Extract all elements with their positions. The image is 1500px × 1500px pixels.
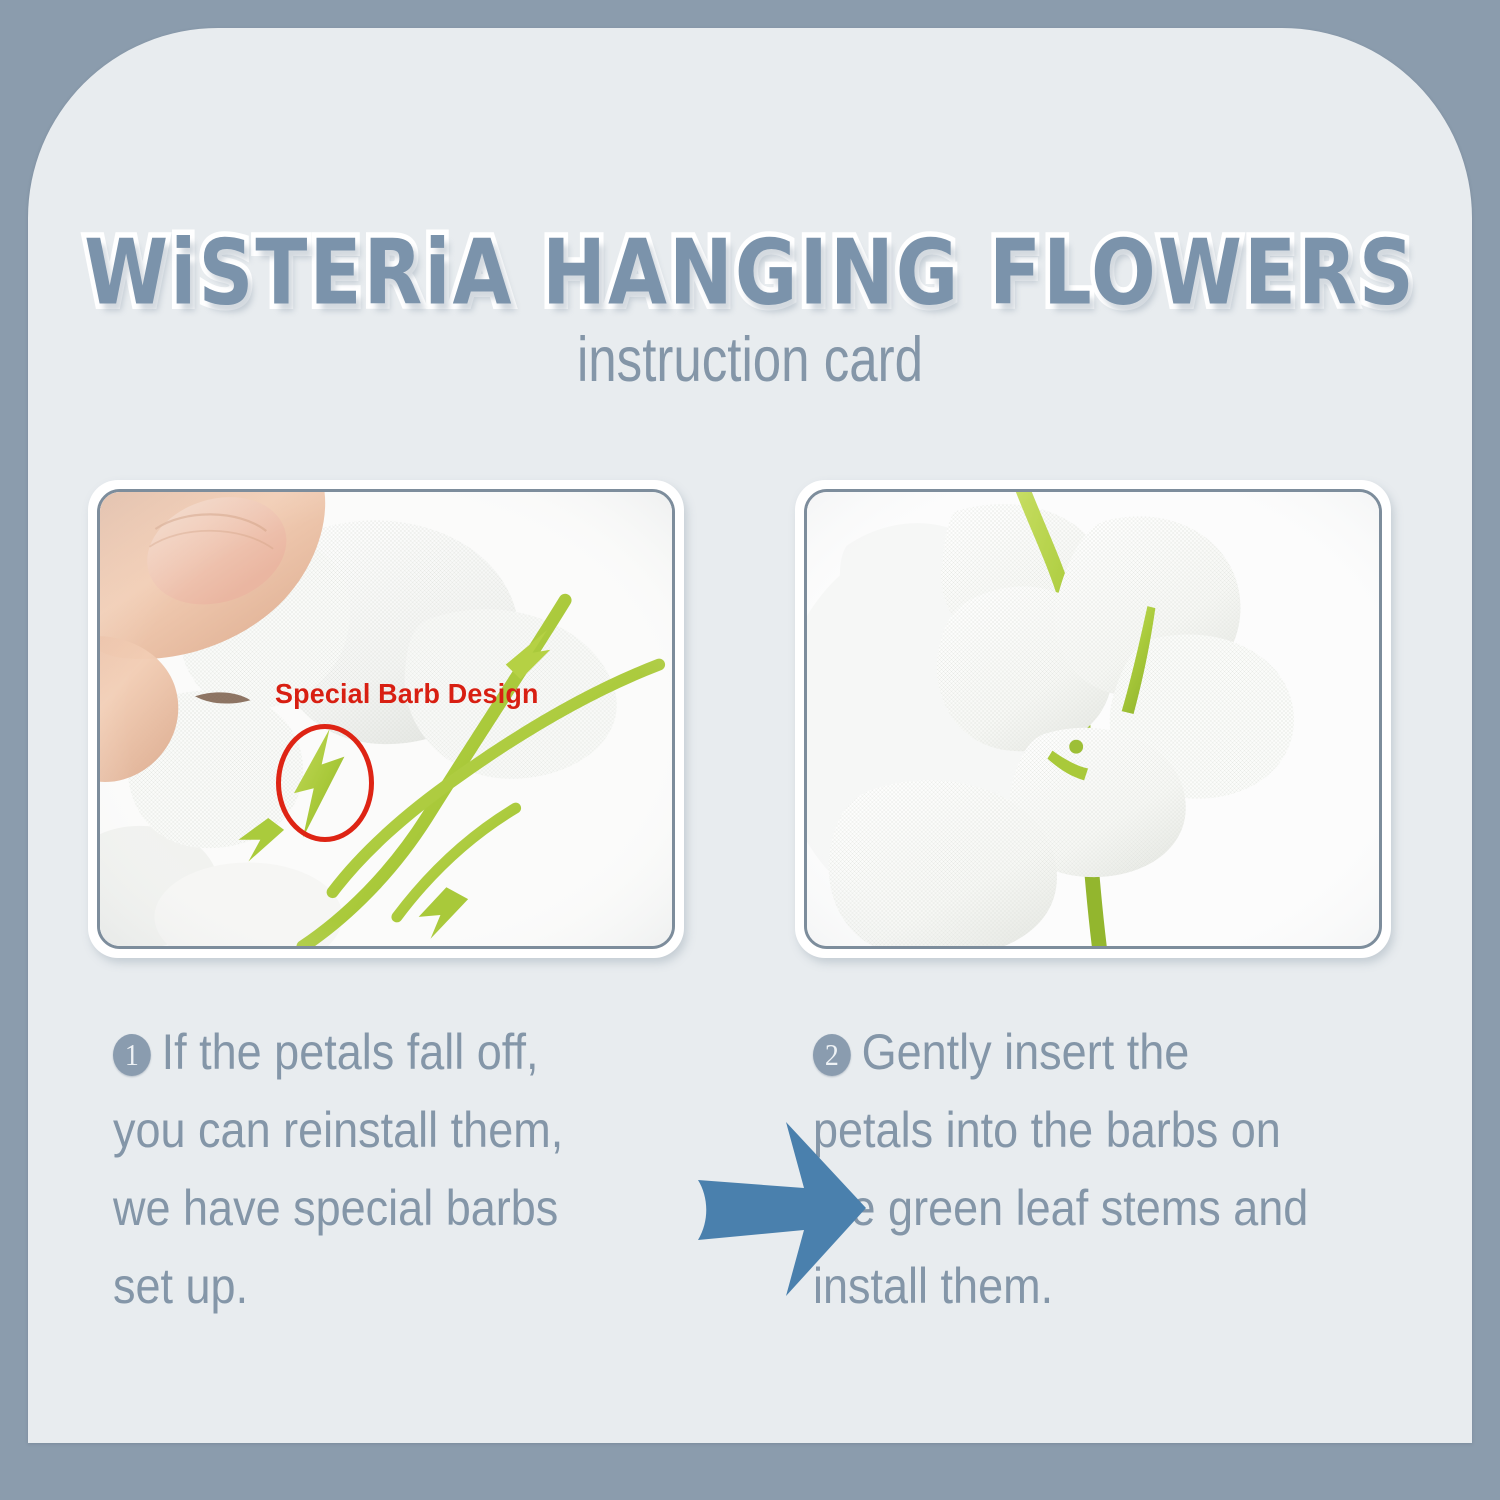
step-2-text-1: Gently insert the	[862, 1024, 1190, 1080]
photo-petals-installed	[804, 489, 1382, 949]
barb-annotation-label: Special Barb Design	[275, 678, 539, 710]
step-1-line-1: 1If the petals fall off,	[113, 1013, 662, 1091]
photo-petals-installed-image	[807, 492, 1379, 946]
photo-barb-closeup-image	[100, 492, 672, 946]
photo-frame-1: Special Barb Design	[88, 480, 684, 958]
step-2-line-4: install them.	[813, 1247, 1362, 1325]
step-2-line-2: petals into the barbs on	[813, 1091, 1362, 1169]
step-2-badge: 2	[813, 1034, 851, 1076]
instruction-card: WiSTERiA HANGING FLOWERS instruction car…	[28, 28, 1472, 1443]
step-1-line-4: set up.	[113, 1247, 662, 1325]
step-1-badge: 1	[113, 1034, 151, 1076]
card-header: WiSTERiA HANGING FLOWERS instruction car…	[28, 28, 1472, 387]
step-1-line-2: you can reinstall them,	[113, 1091, 662, 1169]
instruction-card-stage: WiSTERiA HANGING FLOWERS instruction car…	[0, 0, 1500, 1500]
step-1-text-1: If the petals fall off,	[162, 1024, 539, 1080]
step-2-line-3: the green leaf stems and	[813, 1169, 1362, 1247]
step-1: 1If the petals fall off, you can reinsta…	[113, 1013, 723, 1325]
photo-frame-2	[795, 480, 1391, 958]
step-2-line-1: 2Gently insert the	[813, 1013, 1362, 1091]
step-2: 2Gently insert the petals into the barbs…	[813, 1013, 1423, 1325]
photo-row: Special Barb Design	[28, 480, 1472, 1000]
page-subtitle: instruction card	[115, 272, 1386, 396]
photo-barb-closeup: Special Barb Design	[97, 489, 675, 949]
step-1-line-3: we have special barbs	[113, 1169, 662, 1247]
barb-annotation-circle	[276, 724, 374, 842]
steps-section: 1If the petals fall off, you can reinsta…	[28, 1013, 1472, 1393]
